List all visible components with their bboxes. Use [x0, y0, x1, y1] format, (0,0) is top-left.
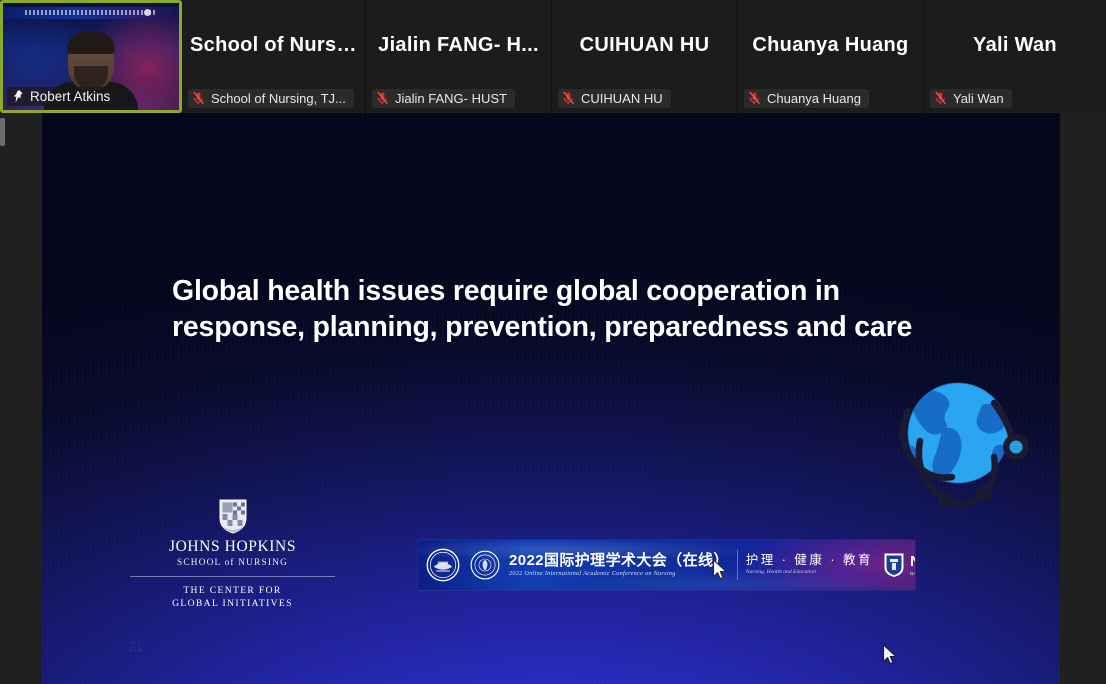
pin-icon: [11, 89, 24, 104]
participant-tile-robert-atkins[interactable]: Robert Atkins: [0, 0, 182, 113]
banner-calligraphy-cn: 护理 · 健康 · 教育: [746, 554, 873, 567]
participant-tile-yali-wan[interactable]: Yali Wan Yali Wan: [924, 0, 1106, 113]
banner-title-cn: 2022国际护理学术大会（在线）: [509, 553, 729, 568]
slide-number: 21: [128, 638, 144, 654]
nus-wordmark: NUS: [910, 554, 915, 569]
participant-name-badge: School of Nursing, TJ...: [188, 89, 354, 108]
participant-tile-school-of-nursing[interactable]: School of Nursi... School of Nursing, TJ…: [182, 0, 366, 113]
mic-muted-icon: [192, 91, 205, 106]
conference-banner: 2022国际护理学术大会（在线） 2022 Online Internation…: [418, 540, 915, 590]
zoom-meeting-window: Robert Atkins School of Nursi... School …: [0, 0, 1106, 684]
participant-name-badge: CUIHUAN HU: [558, 89, 671, 108]
logo-school-name: SCHOOL of NURSING: [130, 558, 335, 568]
participant-name-badge: Chuanya Huang: [744, 89, 869, 108]
participant-big-label: Jialin FANG- H...: [378, 34, 539, 57]
presentation-slide[interactable]: Global health issues require global coop…: [42, 113, 1060, 684]
shared-screen-stage: Global health issues require global coop…: [0, 113, 1106, 684]
conference-seal-icon: [426, 548, 460, 582]
participant-name: Yali Wan: [953, 91, 1004, 106]
nus-crest-icon: [883, 552, 905, 578]
banner-title-en: 2022 Online International Academic Confe…: [509, 571, 729, 577]
viewer-cursor: [882, 644, 898, 666]
johns-hopkins-logo: JOHNS HOPKINS SCHOOL of NURSING THE CENT…: [130, 498, 335, 610]
participant-big-label: Yali Wan: [973, 34, 1057, 57]
participant-name-badge: Jialin FANG- HUST: [372, 89, 515, 108]
johns-hopkins-shield-icon: [218, 498, 248, 534]
participant-big-label: Chuanya Huang: [752, 34, 908, 57]
participant-name: Jialin FANG- HUST: [395, 91, 507, 106]
participant-name-badge: Yali Wan: [930, 89, 1012, 108]
participant-tile-chuanya-huang[interactable]: Chuanya Huang Chuanya Huang: [738, 0, 924, 113]
logo-divider: [130, 576, 335, 577]
participant-name-badge: Robert Atkins: [7, 87, 118, 106]
participant-big-label: CUIHUAN HU: [580, 34, 710, 57]
logo-center-line1: THE CENTER FOR: [130, 584, 335, 597]
logo-center-line2: GLOBAL INITIATIVES: [130, 597, 335, 610]
virtual-background-banner: [3, 7, 179, 19]
nus-logo-group: NUS NATIONAL UNIVERSITY OF SINGAPORE: [883, 552, 915, 578]
screen-share-drag-handle[interactable]: [0, 118, 5, 146]
participant-name: CUIHUAN HU: [581, 91, 663, 106]
mic-muted-icon: [376, 91, 389, 106]
participant-name: Robert Atkins: [30, 89, 110, 104]
banner-divider: [737, 550, 738, 580]
participant-tile-cuihuan-hu[interactable]: CUIHUAN HU CUIHUAN HU: [552, 0, 738, 113]
logo-institution-name: JOHNS HOPKINS: [130, 538, 335, 556]
university-seal-icon: [470, 550, 500, 580]
banner-calligraphy-en: Nursing, Health and Education: [746, 570, 873, 576]
mic-muted-icon: [562, 91, 575, 106]
nus-subtitle: NATIONAL UNIVERSITY OF SINGAPORE: [910, 571, 915, 576]
mic-muted-icon: [748, 91, 761, 106]
participant-tile-jialin-fang[interactable]: Jialin FANG- H... Jialin FANG- HUST: [366, 0, 552, 113]
globe-stethoscope-icon: [870, 371, 1040, 521]
slide-title: Global health issues require global coop…: [172, 273, 932, 345]
participant-filmstrip: Robert Atkins School of Nursi... School …: [0, 0, 1106, 113]
mic-muted-icon: [934, 91, 947, 106]
participant-big-label: School of Nursi...: [190, 34, 357, 57]
participant-name: School of Nursing, TJ...: [211, 91, 346, 106]
participant-name: Chuanya Huang: [767, 91, 861, 106]
